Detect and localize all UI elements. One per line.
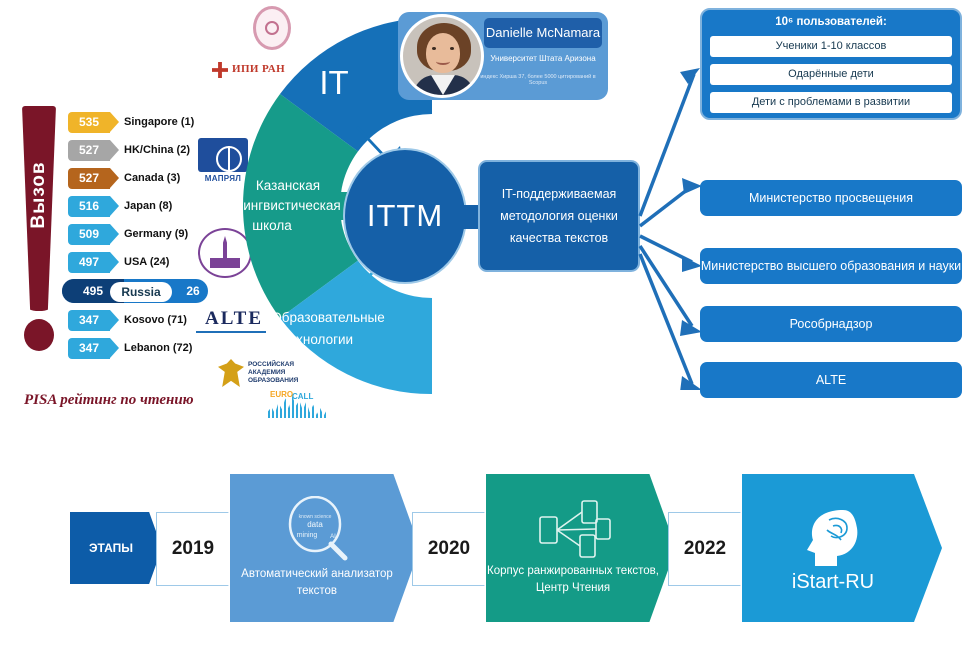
pisa-row-russia: 495 Russia 26 [68,280,208,307]
pisa-score: 509 [68,224,110,245]
avatar [400,14,484,98]
year-2022-label: 2022 [684,538,736,560]
russia-rank: 26 [178,279,208,303]
output-text: IT-поддерживаемая методология оценки кач… [492,183,626,249]
pisa-country: Japan (8) [124,196,172,217]
expert-card: Danielle McNamara Университет Штата Ариз… [398,12,608,100]
pisa-row: 497USA (24) [68,252,208,277]
timeline-stage-1: known science data mining AI Автоматичес… [230,474,420,622]
timeline-stage-2-label: Корпус ранжированных текстов, Центр Чтен… [487,563,659,597]
stage2-line2: Центр Чтения [487,580,659,597]
challenge-dot [24,319,54,351]
pisa-row: 516Japan (8) [68,196,208,221]
pisa-country: Canada (3) [124,168,180,189]
brain-head-icon [803,506,865,572]
pisa-score: 527 [68,168,110,189]
arc-label-kazan-2: лингвистическая [236,198,341,213]
arc-label-it: IT [319,64,348,101]
challenge-label: Вызов [22,139,56,251]
pisa-score: 527 [68,140,110,161]
magnifier-icon: known science data mining AI [281,496,355,562]
ittm-label: ITTM [345,150,465,282]
stakeholder-box: Министерство просвещения [700,180,962,216]
challenge-indicator: Вызов [22,106,56,346]
arc-label-edtech-1: Образовательные [271,310,385,325]
pisa-row: 347Lebanon (72) [68,338,208,363]
timeline-start-chevron: ЭТАПЫ [70,512,162,584]
stakeholder-box: Рособрнадзор [700,306,962,342]
russia-country: Russia [110,282,172,302]
pisa-row: 527HK/China (2) [68,140,208,165]
timeline-stage-2: Корпус ранжированных текстов, Центр Чтен… [486,474,676,622]
user-chip: Одарённые дети [710,64,952,85]
timeline-year-2022: 2022 [668,512,752,586]
timeline-stage-3: iStart-RU [742,474,942,622]
pisa-score: 347 [68,338,110,359]
stage2-line1: Корпус ранжированных текстов, [487,563,659,580]
pisa-row: 347Kosovo (71) [68,310,208,335]
timeline-year-2019: 2019 [156,512,240,586]
arc-label-kazan-3: школа [252,218,292,233]
users-box: 10⁶ пользователей: Ученики 1-10 классовО… [700,8,962,120]
expert-name: Danielle McNamara [484,18,602,48]
expert-metrics: индекс Хирша 37, более 5000 цитирований … [472,74,604,86]
pisa-row: 527Canada (3) [68,168,208,193]
pisa-country: Kosovo (71) [124,310,187,331]
timeline-year-2020: 2020 [412,512,496,586]
pisa-score: 347 [68,310,110,331]
pisa-row: 509Germany (9) [68,224,208,249]
pisa-score: 535 [68,112,110,133]
output-line2: методология оценки [500,205,618,227]
timeline-stage-1-label: Автоматический анализатор текстов [241,566,393,600]
output-line3: качества текстов [500,227,618,249]
pisa-caption: PISA рейтинг по чтению [24,392,244,409]
year-2020-label: 2020 [428,538,480,560]
output-line1: IT-поддерживаемая [500,183,618,205]
user-chip: Дети с проблемами в развитии [710,92,952,113]
pisa-country: HK/China (2) [124,140,190,161]
roadmap-timeline: ЭТАПЫ 2019 known science data mining AI … [70,470,950,630]
timeline-start-label: ЭТАПЫ [89,541,143,555]
expert-affiliation: Университет Штата Аризона [484,54,602,63]
user-chip: Ученики 1-10 классов [710,36,952,57]
arc-label-kazan-1: Казанская [256,178,320,193]
arc-label-edtech-2: технологии [283,332,353,347]
svg-text:AI: AI [330,534,336,540]
server-network-icon [534,499,614,559]
pisa-country: Germany (9) [124,224,188,245]
svg-text:data: data [307,520,323,529]
pisa-score: 497 [68,252,110,273]
svg-text:mining: mining [297,532,318,539]
pisa-country: USA (24) [124,252,169,273]
users-title: 10⁶ пользователей: [702,16,960,28]
stage1-line2: текстов [241,583,393,600]
pisa-country: Singapore (1) [124,112,194,133]
output-methodology-box: IT-поддерживаемая методология оценки кач… [478,160,640,272]
pisa-ranking-list: 535Singapore (1)527HK/China (2)527Canada… [68,112,208,366]
stage1-line1: Автоматический анализатор [241,566,393,583]
pisa-score: 516 [68,196,110,217]
stakeholder-box: Министерство высшего образования и науки [700,248,962,284]
pisa-country: Lebanon (72) [124,338,192,359]
stakeholder-box: ALTE [700,362,962,398]
ipi-ran-icon [212,62,228,78]
pisa-row: 535Singapore (1) [68,112,208,137]
ittm-core-node: ITTM [345,150,465,282]
output-fanout-arrows [636,40,708,390]
year-2019-label: 2019 [172,538,224,560]
timeline-stage-3-label: iStart-RU [792,574,874,591]
